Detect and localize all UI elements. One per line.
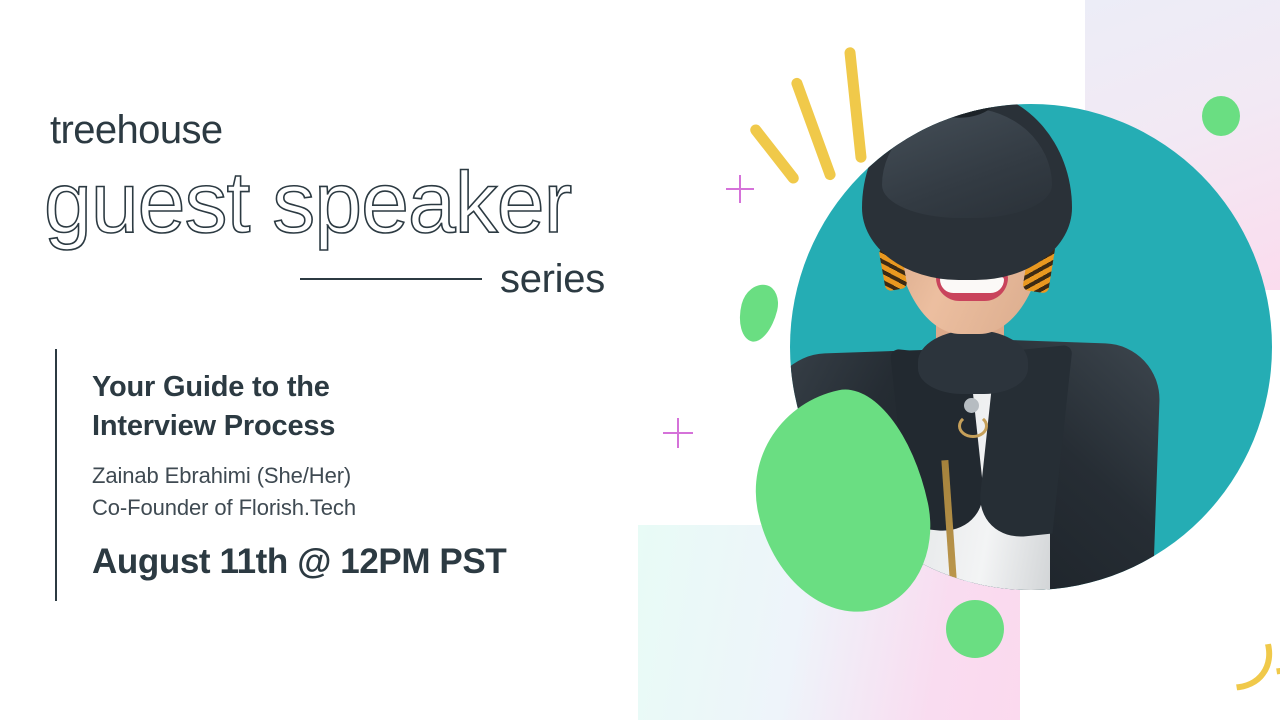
headline-outline-text: guest speaker [44,160,571,246]
series-divider-rule [300,278,482,280]
series-label: series [500,257,605,302]
plus-mark-icon-lower [663,418,693,448]
series-row: series [300,255,625,303]
green-dot-top-right [1202,96,1240,136]
jacket-snap-button [964,398,979,413]
necklace [958,414,988,438]
speaker-name: Zainab Ebrahimi (She/Her) [92,460,612,492]
talk-title-line-1: Your Guide to the [92,368,612,407]
talk-title-line-2: Interview Process [92,407,612,446]
green-dot-bottom [946,600,1004,658]
speaker-role: Co-Founder of Florish.Tech [92,492,612,524]
slide-canvas: treehouse guest speaker series Your Guid… [0,0,1280,720]
plus-mark-icon-upper [726,175,754,203]
jacket-collar [918,330,1028,394]
talk-title: Your Guide to the Interview Process [92,368,612,446]
details-accent-bar [55,349,57,601]
event-datetime: August 11th @ 12PM PST [92,542,612,582]
brand-wordmark: treehouse [50,108,223,153]
green-blob-small-left [734,281,783,346]
text-content-area: treehouse guest speaker series Your Guid… [0,0,660,720]
event-details: Your Guide to the Interview Process Zain… [92,368,612,582]
